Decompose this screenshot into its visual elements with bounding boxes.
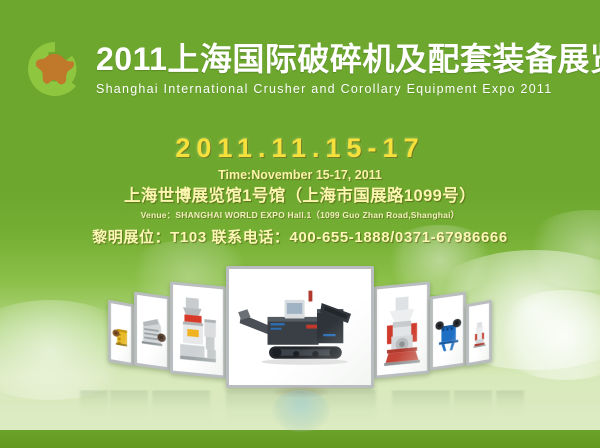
impact-crusher-grey-icon [137, 295, 167, 367]
machine-panel-wall [0, 262, 600, 392]
panel-impact-crusher[interactable] [134, 291, 170, 370]
panel-sand-making-machine[interactable] [170, 281, 226, 378]
cloud-decoration [490, 290, 600, 380]
cone-crusher-white-red-icon [377, 285, 427, 376]
page-subtitle: Shanghai International Crusher and Corol… [96, 80, 600, 98]
booth-and-contact: 黎明展位：T103 联系电话：400-655-1888/0371-6798666… [0, 228, 600, 248]
event-venue-en: Venue：SHANGHAI WORLD EXPO Hall.1（1099 Gu… [0, 209, 600, 221]
panel-blue-feeder[interactable] [430, 291, 466, 370]
logo-icon [24, 38, 86, 100]
panel-mobile-crushing-plant[interactable] [226, 266, 374, 388]
globe-reflection [272, 390, 330, 432]
panel-cone-crusher[interactable] [374, 281, 430, 378]
jaw-crusher-yellow-icon [111, 303, 131, 363]
panel-reflections [0, 390, 600, 438]
expo-leaf-logo [24, 38, 86, 100]
feeder-blue-icon [433, 295, 463, 367]
page-title: 2011上海国际破碎机及配套装备展览会 [96, 40, 600, 78]
panel-raymond-mill[interactable] [466, 300, 492, 367]
event-date-en: Time:November 15-17, 2011 [0, 167, 600, 183]
mobile-crusher-track-icon [229, 269, 371, 385]
expo-banner: 2011上海国际破碎机及配套装备展览会 Shanghai Internation… [0, 0, 600, 448]
event-venue-cn: 上海世博展览馆1号馆（上海市国展路1099号） [0, 186, 600, 207]
banner-header: 2011上海国际破碎机及配套装备展览会 Shanghai Internation… [0, 28, 600, 110]
sand-maker-white-red-icon [173, 285, 223, 376]
raymond-mill-white-icon [469, 303, 489, 363]
title-block: 2011上海国际破碎机及配套装备展览会 Shanghai Internation… [96, 40, 600, 98]
event-info: 2011.11.15-17 Time:November 15-17, 2011 … [0, 132, 600, 248]
event-date: 2011.11.15-17 [0, 132, 600, 164]
panel-jaw-crusher-small[interactable] [108, 300, 134, 367]
